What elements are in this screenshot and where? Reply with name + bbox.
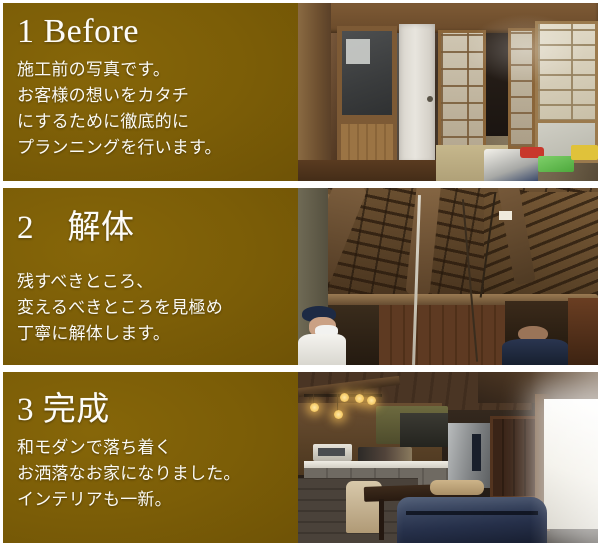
description-line: 変えるべきところを見極め <box>17 295 298 321</box>
step-text-column-before: 1 Before 施工前の写真です。 お客様の想いをカタチ にするために徹底的に… <box>3 3 298 181</box>
description-line: インテリアも一新。 <box>17 487 298 513</box>
photo-range-hood <box>400 413 448 447</box>
renovation-steps-board: 1 Before 施工前の写真です。 お客様の想いをカタチ にするために徹底的に… <box>0 0 600 553</box>
photo-window-light-bloom <box>508 372 598 543</box>
step-description-complete: 和モダンで落ち着く お洒落なお家になりました。 インテリアも一新。 <box>17 435 298 512</box>
photo-paper-note <box>346 39 370 64</box>
photo-worker-jacket <box>502 339 568 365</box>
photo-pendant-lamp <box>340 393 349 402</box>
photo-worker-with-mask <box>298 305 346 365</box>
step-photo-column-demolition <box>298 188 598 365</box>
description-line: お洒落なお家になりました。 <box>17 461 298 487</box>
photo-door-knob <box>427 96 433 102</box>
photo-worker-shirt <box>298 334 346 365</box>
description-line: お客様の想いをカタチ <box>17 83 298 109</box>
description-line: 和モダンで落ち着く <box>17 435 298 461</box>
photo-paper-tag <box>499 211 512 220</box>
description-line: 丁寧に解体します。 <box>17 321 298 347</box>
photo-bolster-cushion <box>430 480 484 495</box>
photo-microwave <box>313 444 352 461</box>
step-heading-demolition: 2 解体 <box>17 210 298 247</box>
photo-before-japanese-room <box>298 3 598 181</box>
photo-right-doorway <box>568 298 598 365</box>
photo-pendant-wire <box>337 394 338 411</box>
step-text-column-demolition: 2 解体 残すべきところ、 変えるべきところを見極め 丁寧に解体します。 <box>3 188 298 365</box>
photo-demolition-roof-structure <box>298 188 598 365</box>
step-photo-column-complete <box>298 372 598 543</box>
photo-yellow-item <box>571 145 598 159</box>
step-photo-column-before <box>298 3 598 181</box>
photo-narrow-window <box>472 434 481 472</box>
photo-pendant-lamp <box>367 396 376 405</box>
step-heading-before: 1 Before <box>17 13 298 51</box>
photo-green-basket <box>538 156 574 172</box>
description-line: 施工前の写真です。 <box>17 57 298 83</box>
photo-light-glow <box>466 14 586 85</box>
photo-table-leg <box>379 499 384 540</box>
description-line: にするために徹底的に <box>17 109 298 135</box>
photo-pendant-lamp <box>310 403 319 412</box>
photo-pendant-lamp <box>334 410 343 419</box>
step-description-demolition: 残すべきところ、 変えるべきところを見極め 丁寧に解体します。 <box>17 269 298 346</box>
step-panel-before: 1 Before 施工前の写真です。 お客様の想いをカタチ にするために徹底的に… <box>3 3 598 181</box>
step-text-column-complete: 3 完成 和モダンで落ち着く お洒落なお家になりました。 インテリアも一新。 <box>3 372 298 543</box>
photo-wood-floor <box>298 160 436 181</box>
photo-white-door <box>399 24 435 163</box>
photo-plank-wall <box>379 305 505 365</box>
description-line: 残すべきところ、 <box>17 269 298 295</box>
description-line: プランニングを行います。 <box>17 135 298 161</box>
photo-wood-post <box>298 3 331 181</box>
step-description-before: 施工前の写真です。 お客様の想いをカタチ にするために徹底的に プランニングを行… <box>17 57 298 160</box>
photo-second-worker <box>502 326 568 365</box>
step-heading-complete: 3 完成 <box>17 392 298 429</box>
photo-completed-modern-interior <box>298 372 598 543</box>
step-panel-demolition: 2 解体 残すべきところ、 変えるべきところを見極め 丁寧に解体します。 <box>3 188 598 365</box>
photo-refrigerator <box>448 423 490 488</box>
step-panel-complete: 3 完成 和モダンで落ち着く お洒落なお家になりました。 インテリアも一新。 <box>3 372 598 543</box>
